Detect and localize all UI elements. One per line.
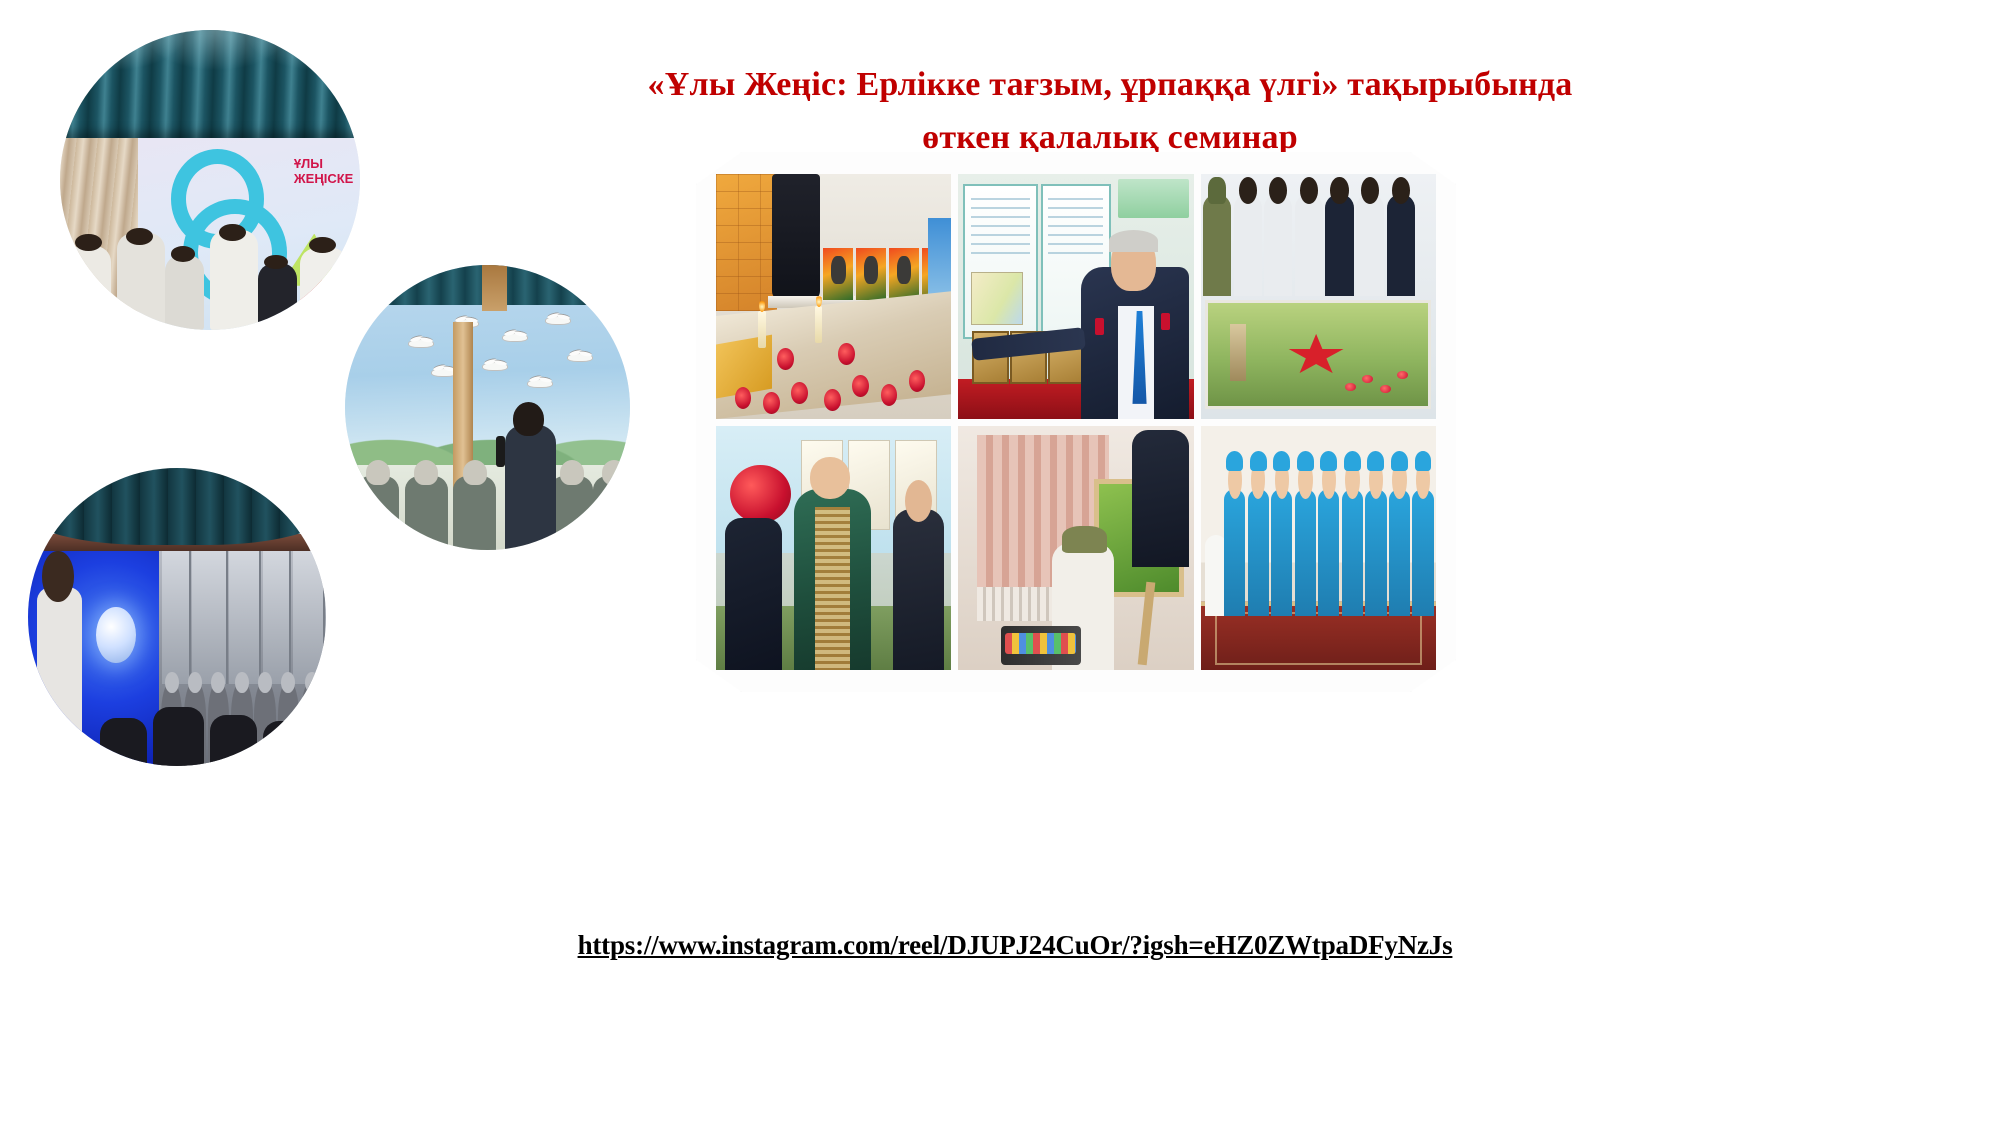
collage-cell-childrens-choir (1201, 426, 1436, 671)
stage-post (482, 265, 508, 311)
circle-photo-stage-80: ҰЛЫ ЖЕҢІСКЕ (60, 30, 360, 330)
pilotka-cap (1062, 526, 1107, 553)
title-line-1: «Ұлы Жеңіс: Ерлікке тағзым, ұрпаққа үлгі… (500, 60, 1720, 109)
circle-photo-cranes-backdrop (345, 265, 630, 550)
childrens-choir (1201, 489, 1436, 616)
crane-icon (502, 333, 528, 342)
battlefield-diorama (1205, 300, 1431, 409)
red-star-icon (1288, 334, 1345, 377)
crane-icon (408, 339, 434, 348)
elder-head (810, 457, 850, 499)
candle-icon (758, 311, 766, 348)
collage-cell-diorama-children (1201, 174, 1436, 419)
brick-wall (716, 174, 777, 311)
obelisk-model (1230, 324, 1245, 382)
exhibition-board (963, 184, 1038, 340)
stage-curtain (60, 30, 360, 138)
microphone-icon (496, 436, 505, 467)
crane-icon (545, 316, 571, 325)
medal-icon (1161, 313, 1170, 330)
seated-girls-row (345, 476, 630, 550)
crane-icon (482, 362, 508, 371)
circle-photo-stage-80-content: ҰЛЫ ЖЕҢІСКЕ (60, 30, 360, 330)
instagram-reel-link[interactable]: https://www.instagram.com/reel/DJUPJ24Cu… (578, 930, 1453, 960)
stage-curtain-dark (28, 468, 326, 545)
screen-text-line-1: ҰЛЫ (294, 157, 353, 172)
crane-icon (527, 379, 553, 388)
collage-cell-flowers-chapan (716, 426, 951, 671)
collage-cell-easel-artwork (958, 426, 1193, 671)
collage-cell-memorial-display (716, 174, 951, 419)
circle-photo-cranes-content (345, 265, 630, 550)
red-flower-bouquet (730, 465, 791, 524)
moon-icon (96, 607, 135, 663)
children-and-guests-row (1201, 194, 1436, 297)
speaker-boy-head (513, 402, 544, 436)
candle-icon (815, 306, 823, 343)
medal-icon (1095, 318, 1104, 335)
guest-in-suit (1132, 430, 1188, 567)
crane-icon (567, 353, 593, 362)
paint-box (1001, 626, 1081, 665)
photo-collage-six-panels (696, 152, 1456, 692)
elder-in-chapan (794, 489, 872, 670)
students-crowd (60, 228, 360, 330)
circle-photo-war-footage (28, 468, 326, 766)
speaker-boy (505, 425, 556, 550)
collage-grid (716, 174, 1436, 670)
link-row: https://www.instagram.com/reel/DJUPJ24Cu… (0, 930, 2000, 961)
circle-photo-war-footage-content (28, 468, 326, 766)
green-banner (1118, 179, 1189, 218)
screen-text: ҰЛЫ ЖЕҢІСКЕ (294, 157, 353, 187)
man-in-suit (725, 518, 781, 670)
seated-viewers (28, 689, 326, 766)
collage-cell-veteran-presentation (958, 174, 1193, 419)
screen-text-line-2: ЖЕҢІСКЕ (294, 172, 353, 187)
military-uniform (772, 174, 819, 301)
woman-guest (893, 509, 945, 670)
page-title: «Ұлы Жеңіс: Ерлікке тағзым, ұрпаққа үлгі… (500, 60, 1720, 163)
